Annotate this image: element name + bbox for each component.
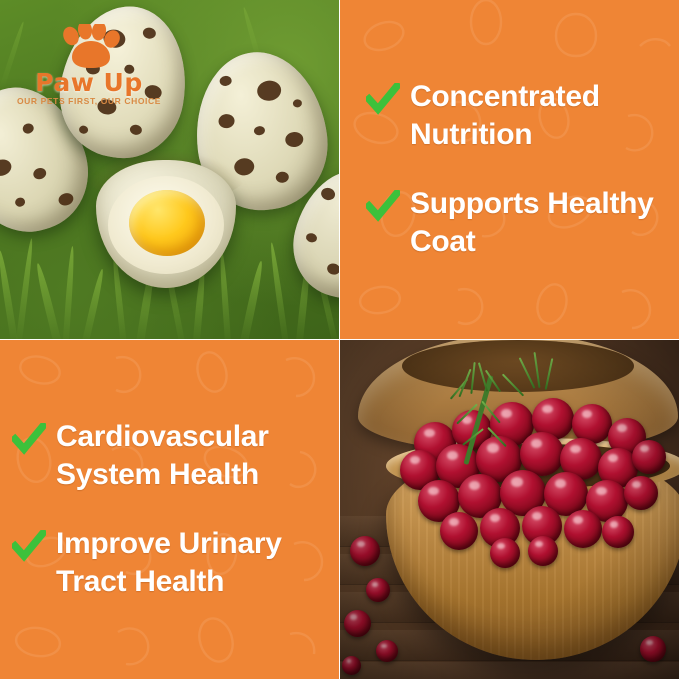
- bullet-list-top-right: Concentrated Nutrition Supports Healthy …: [340, 0, 679, 339]
- product-benefit-collage: Paw Up OUR PETS FIRST, OUR CHOICE: [0, 0, 679, 679]
- bullet-item: Cardiovascular System Health: [12, 418, 329, 495]
- brand-tagline: OUR PETS FIRST, OUR CHOICE: [14, 96, 164, 106]
- bullet-label: Improve Urinary Tract Health: [56, 525, 329, 602]
- bullet-label: Cardiovascular System Health: [56, 418, 329, 495]
- cranberries-photo: [340, 340, 679, 679]
- photo-vignette: [340, 340, 679, 679]
- brand-name: Paw Up: [22, 68, 156, 97]
- bullet-label: Supports Healthy Coat: [410, 185, 671, 262]
- bullet-item: Supports Healthy Coat: [366, 185, 671, 262]
- paw-print-icon: [60, 24, 122, 70]
- benefits-panel-top-right: Concentrated Nutrition Supports Healthy …: [340, 0, 679, 339]
- benefits-panel-bottom-left: Cardiovascular System Health Improve Uri…: [0, 340, 339, 679]
- bullet-item: Concentrated Nutrition: [366, 78, 671, 155]
- check-icon: [366, 190, 400, 224]
- bullet-label: Concentrated Nutrition: [410, 78, 671, 155]
- bullet-list-bottom-left: Cardiovascular System Health Improve Uri…: [0, 340, 339, 679]
- check-icon: [12, 423, 46, 457]
- brand-logo: Paw Up OUR PETS FIRST, OUR CHOICE: [14, 24, 164, 116]
- horizontal-divider: [0, 339, 679, 340]
- check-icon: [366, 83, 400, 117]
- quail-eggs-photo: Paw Up OUR PETS FIRST, OUR CHOICE: [0, 0, 339, 339]
- check-icon: [12, 530, 46, 564]
- bullet-item: Improve Urinary Tract Health: [12, 525, 329, 602]
- egg-yolk: [129, 190, 205, 256]
